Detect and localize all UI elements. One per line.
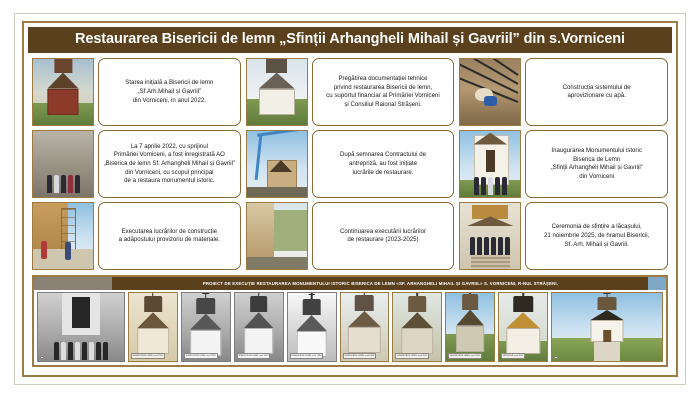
photo-church-exterior-summer	[246, 58, 308, 126]
strip-photo-archive-3: BISERICA DE LEMN, anul 1970	[234, 292, 284, 362]
card-technical-documentation: Pregătirea documentației tehnice privind…	[246, 58, 455, 126]
strip-photo-tag: BISERICA, anul 2025	[501, 353, 525, 359]
card-label: Inaugurarea Monumentului istoric Biseric…	[551, 147, 643, 182]
card-text-technical-documentation: Pregătirea documentației tehnice privind…	[312, 58, 455, 126]
card-restoration-continues: Continuarea executării lucrărilor de res…	[246, 202, 455, 270]
card-consecration: Ceremonia de sfințire a lăcașului, 21 no…	[459, 202, 668, 270]
card-text-restoration-continues: Continuarea executării lucrărilor de res…	[312, 202, 455, 270]
strip-photo-archive-4: BISERICA DE LEMN, anul 1980	[287, 292, 337, 362]
photo-restoration-works-ongoing	[246, 202, 308, 270]
card-text-contract-signed: După semnarea Contractului de antrepriză…	[312, 130, 455, 198]
card-ngo-registration: La 7 aprilie 2022, cu sprijinul Primărie…	[32, 130, 241, 198]
card-text-consecration: Ceremonia de sfințire a lăcașului, 21 no…	[525, 202, 668, 270]
card-label: Ceremonia de sfințire a lăcașului, 21 no…	[544, 223, 649, 249]
card-label: Executarea lucrărilor de construcție a a…	[119, 228, 220, 245]
card-temporary-shelter: Executarea lucrărilor de construcție a a…	[32, 202, 241, 270]
strip-banner-text: PROIECT DE EXECUȚIE RESTAURAREA MONUMENT…	[113, 277, 648, 290]
strip-header-thumb	[34, 277, 113, 290]
card-water-supply: Construcția sistemului de aprovizionare …	[459, 58, 668, 126]
strip-photo-before-3: BISERICA DE LEMN, anul 2020	[445, 292, 495, 362]
strip-photo-tag: BISERICA DE LEMN, anul 2010	[343, 353, 377, 359]
photo-inauguration-officials	[459, 130, 521, 198]
card-contract-signed: După semnarea Contractului de antrepriză…	[246, 130, 455, 198]
photo-crane-lifting-church	[246, 130, 308, 198]
strip-photo-tag: BISERICA DE LEMN, anul 1920	[131, 353, 165, 359]
card-text-initial-state: Starea inițială a Bisericii de lemn „Sf.…	[98, 58, 241, 126]
strip-photos: BISERICA DE LEMN, anul 1920 BISERICA DE …	[34, 290, 666, 365]
card-text-water-supply: Construcția sistemului de aprovizionare …	[525, 58, 668, 126]
strip-photo-tag: BISERICA DE LEMN, anul 2020	[448, 353, 482, 359]
strip-header-corner	[648, 277, 666, 290]
cards-grid: Starea inițială a Bisericii de lemn „Sf.…	[28, 53, 672, 273]
card-initial-state: Starea inițială a Bisericii de lemn „Sf.…	[32, 58, 241, 126]
strip-photo-after-restoration: BISERICA, anul 2025	[498, 292, 548, 362]
card-text-inauguration: Inaugurarea Monumentului istoric Biseric…	[525, 130, 668, 198]
poster-board: Restaurarea Bisericii de lemn „Sfinții A…	[22, 21, 678, 377]
poster-page: Restaurarea Bisericii de lemn „Sfinții A…	[0, 0, 700, 414]
strip-header: PROIECT DE EXECUȚIE RESTAURAREA MONUMENT…	[34, 277, 666, 290]
photo-ngo-founding-meeting	[32, 130, 94, 198]
strip-photo-tag: BISERICA DE LEMN, anul 1970	[237, 353, 271, 359]
strip-photo-tag: BISERICA DE LEMN, anul 1950	[184, 353, 218, 359]
page-title: Restaurarea Bisericii de lemn „Sfinții A…	[28, 27, 672, 53]
card-inauguration: Inaugurarea Monumentului istoric Biseric…	[459, 130, 668, 198]
photo-consecration-clergy	[459, 202, 521, 270]
card-label: Continuarea executării lucrărilor de res…	[340, 228, 426, 245]
strip-photo-archive-2: BISERICA DE LEMN, anul 1950	[181, 292, 231, 362]
strip-photo-before-1: BISERICA DE LEMN, anul 2010	[340, 292, 390, 362]
card-label: Starea inițială a Bisericii de lemn „Sf.…	[125, 79, 213, 105]
strip-photo-tag: BISERICA DE LEMN, anul 1980	[290, 353, 324, 359]
strip-photo-before-2: BISERICA DE LEMN, anul 2015	[392, 292, 442, 362]
strip-photo-tag	[554, 356, 558, 359]
strip-photo-tag: BISERICA DE LEMN, anul 2015	[395, 353, 429, 359]
card-label: Pregătirea documentației tehnice privind…	[326, 75, 439, 110]
card-text-ngo-registration: La 7 aprilie 2022, cu sprijinul Primărie…	[98, 130, 241, 198]
photo-water-supply-trench	[459, 58, 521, 126]
card-label: La 7 aprilie 2022, cu sprijinul Primărie…	[104, 143, 235, 186]
strip-photo-tag	[40, 356, 44, 359]
card-label: Construcția sistemului de aprovizionare …	[563, 84, 631, 101]
strip-photo-final-view	[551, 292, 663, 362]
history-photo-strip: PROIECT DE EXECUȚIE RESTAURAREA MONUMENT…	[32, 275, 668, 367]
photo-church-initial-state	[32, 58, 94, 126]
strip-photo-archive-1: BISERICA DE LEMN, anul 1920	[128, 292, 178, 362]
card-text-temporary-shelter: Executarea lucrărilor de construcție a a…	[98, 202, 241, 270]
strip-photo-historic-procession	[37, 292, 125, 362]
photo-temporary-shelter-construction	[32, 202, 94, 270]
card-label: După semnarea Contractului de antrepriză…	[340, 151, 426, 177]
